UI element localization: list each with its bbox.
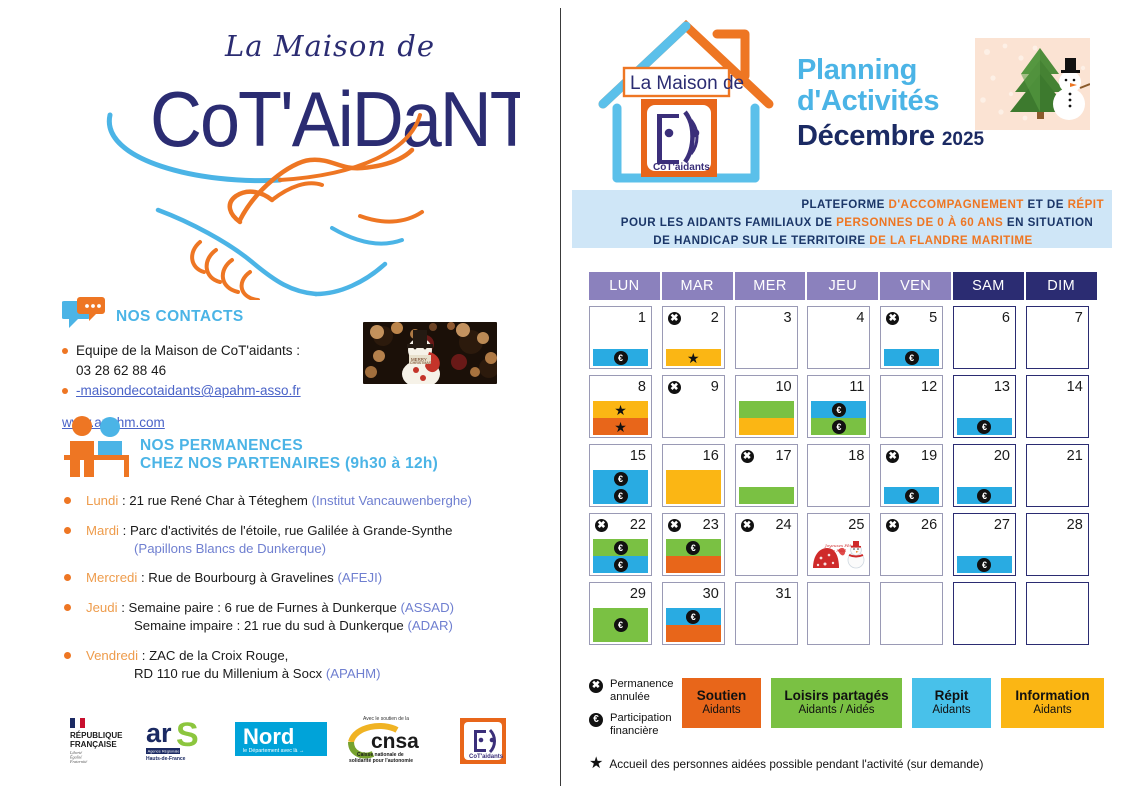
calendar-day-18[interactable]: 18 bbox=[807, 444, 870, 507]
calendar-day-4[interactable]: 4 bbox=[807, 306, 870, 369]
cotaidants-logo: CoT'aidants bbox=[460, 718, 506, 769]
activity-bands: € bbox=[666, 539, 721, 573]
calendar-cell-wrapper: 16 bbox=[662, 444, 735, 513]
activity-bands: €€ bbox=[593, 470, 648, 504]
calendar-cell-wrapper: 28 bbox=[1026, 513, 1099, 582]
legend-category-r-pit[interactable]: RépitAidants bbox=[912, 678, 991, 728]
calendar-day-15[interactable]: 15€€ bbox=[589, 444, 652, 507]
day-header: ✖2 bbox=[663, 307, 724, 329]
day-number: 9 bbox=[711, 380, 719, 395]
svg-text:CoT'aidants: CoT'aidants bbox=[469, 754, 504, 760]
day-number: 11 bbox=[849, 380, 864, 395]
day-header: 7 bbox=[1027, 307, 1088, 329]
day-number: 7 bbox=[1075, 311, 1083, 326]
calendar-day-31[interactable]: 31 bbox=[735, 582, 798, 645]
calendar-day-grid: 1€✖2★34✖5€678★★✖91011€€1213€1415€€16✖171… bbox=[589, 306, 1099, 651]
left-panel: La Maison de CoT'AiDaNTs bbox=[0, 0, 558, 794]
permanence-sep: : bbox=[119, 523, 130, 538]
activity-band-orange[interactable]: ★ bbox=[593, 418, 648, 435]
activity-band-yellow[interactable] bbox=[666, 470, 721, 504]
activity-band-green[interactable]: € bbox=[593, 608, 648, 642]
cnsa-logo: Avec le soutien de la cnsa Caisse nation… bbox=[345, 712, 437, 769]
two-people-desk-icon bbox=[62, 415, 130, 482]
calendar-day-11[interactable]: 11€€ bbox=[807, 375, 870, 438]
mission-banner: PLATEFORME D'ACCOMPAGNEMENT ET DE RÉPIT … bbox=[572, 190, 1112, 248]
legend-category-subtitle: Aidants bbox=[1033, 704, 1071, 718]
day-number: 13 bbox=[994, 380, 1010, 395]
calendar-cell-wrapper: 21 bbox=[1026, 444, 1099, 513]
svg-text:La Maison de: La Maison de bbox=[224, 29, 435, 63]
title-month: Décembre bbox=[797, 120, 935, 153]
day-header: 29 bbox=[590, 583, 651, 605]
permanence-sub-row: RD 110 rue du Millenium à Socx (APAHM) bbox=[86, 665, 542, 683]
activity-band-blue[interactable]: € bbox=[666, 608, 721, 625]
calendar-day-13[interactable]: 13€ bbox=[953, 375, 1016, 438]
day-header: ✖17 bbox=[736, 445, 797, 467]
activity-band-yellow[interactable] bbox=[739, 418, 794, 435]
weekday-header-ven: VEN bbox=[880, 272, 951, 300]
activity-band-blue[interactable]: € bbox=[957, 556, 1012, 573]
day-number: 19 bbox=[921, 449, 937, 464]
calendar-day-14[interactable]: 14 bbox=[1026, 375, 1089, 438]
calendar-day-30[interactable]: 30€ bbox=[662, 582, 725, 645]
day-header: 10 bbox=[736, 376, 797, 398]
calendar-day-3[interactable]: 3 bbox=[735, 306, 798, 369]
activity-bands: ★★ bbox=[593, 401, 648, 435]
permanence-day: Mercredi bbox=[86, 570, 137, 585]
contact-team-row: Equipe de la Maison de CoT'aidants : 03 … bbox=[62, 341, 362, 380]
calendar-day-26[interactable]: ✖26 bbox=[880, 513, 943, 576]
svg-text:Nord: Nord bbox=[243, 724, 294, 749]
permanence-sub-partner: (ADAR) bbox=[407, 618, 452, 633]
planning-poster: La Maison de CoT'AiDaNTs bbox=[0, 0, 1123, 794]
legend-category-information[interactable]: InformationAidants bbox=[1001, 678, 1104, 728]
calendar-cell-wrapper: 13€ bbox=[953, 375, 1026, 444]
permanences-title-line2: CHEZ NOS PARTENAIRES (9h30 à 12h) bbox=[140, 455, 438, 473]
activity-bands: € bbox=[593, 608, 648, 642]
activity-band-orange[interactable] bbox=[666, 625, 721, 642]
day-header bbox=[808, 583, 869, 605]
day-header: ✖26 bbox=[881, 514, 942, 536]
calendar-cell-wrapper: ✖24 bbox=[735, 513, 808, 582]
activity-bands: € bbox=[884, 487, 939, 504]
activity-bands: € bbox=[957, 487, 1012, 504]
calendar-cell-wrapper bbox=[953, 582, 1026, 651]
permanence-address: Semaine paire : 6 rue de Furnes à Dunker… bbox=[129, 600, 397, 615]
euro-coin-icon: € bbox=[614, 558, 628, 572]
day-number: 8 bbox=[638, 380, 646, 395]
permanence-item: Mardi : Parc d'activités de l'étoile, ru… bbox=[62, 522, 542, 558]
calendar-cell-wrapper: ✖2★ bbox=[662, 306, 735, 375]
calendar-cell-wrapper: ✖17 bbox=[735, 444, 808, 513]
legend-category-title: Soutien bbox=[697, 688, 747, 704]
activity-band-blue[interactable]: € bbox=[593, 487, 648, 504]
permanence-sub-partner: (Papillons Blancs de Dunkerque) bbox=[86, 540, 542, 558]
euro-coin-icon: € bbox=[614, 618, 628, 632]
activity-band-blue[interactable]: € bbox=[884, 349, 939, 366]
contact-email-link[interactable]: -maisondecotaidants@apahm-asso.fr bbox=[76, 381, 362, 401]
calendar-day-25[interactable]: 25Joyeuses Fêtesde Noël bbox=[807, 513, 870, 576]
calendar-day-12[interactable]: 12 bbox=[880, 375, 943, 438]
day-number: 5 bbox=[929, 311, 937, 326]
day-header: 25 bbox=[808, 514, 869, 536]
legend-key-line1: Permanence bbox=[610, 678, 673, 690]
permanences-list: Lundi : 21 rue René Char à Téteghem (Ins… bbox=[62, 492, 542, 683]
permanence-sub: Semaine impaire : 21 rue du sud à Dunker… bbox=[134, 618, 404, 633]
permanence-address: Rue de Bourbourg à Gravelines bbox=[148, 570, 333, 585]
calendar-day-28[interactable]: 28 bbox=[1026, 513, 1089, 576]
permanence-day: Lundi bbox=[86, 493, 118, 508]
day-number: 31 bbox=[775, 587, 791, 602]
calendar-day-29[interactable]: 29€ bbox=[589, 582, 652, 645]
calendar-cell-wrapper: 15€€ bbox=[589, 444, 662, 513]
permanence-address: Parc d'activités de l'étoile, rue Galilé… bbox=[130, 523, 452, 538]
svg-text:cnsa: cnsa bbox=[371, 730, 419, 753]
euro-coin-icon: € bbox=[614, 472, 628, 486]
permanences-heading: NOS PERMANENCES CHEZ NOS PARTENAIRES (9h… bbox=[62, 415, 542, 482]
calendar-cell-wrapper: 30€ bbox=[662, 582, 735, 651]
calendar-cell-wrapper: 14 bbox=[1026, 375, 1099, 444]
calendar-cell-wrapper bbox=[1026, 582, 1099, 651]
day-header: 12 bbox=[881, 376, 942, 398]
legend-key-line2: financière bbox=[610, 725, 659, 737]
weekday-header-mar: MAR bbox=[662, 272, 733, 300]
day-header: 13 bbox=[954, 376, 1015, 398]
legend-category-subtitle: Aidants bbox=[702, 704, 740, 718]
legend-key-text: Permanence annulée bbox=[610, 678, 673, 705]
calendar-day-27[interactable]: 27€ bbox=[953, 513, 1016, 576]
permanence-address: 21 rue René Char à Téteghem bbox=[129, 493, 308, 508]
banner-seg: PERSONNES DE 0 À 60 ANS bbox=[836, 216, 1007, 229]
calendar-cell-wrapper bbox=[880, 582, 953, 651]
day-header: 4 bbox=[808, 307, 869, 329]
day-number: 4 bbox=[856, 311, 864, 326]
calendar-cell-wrapper: 20€ bbox=[953, 444, 1026, 513]
euro-coin-icon: € bbox=[905, 489, 919, 503]
day-header: 20 bbox=[954, 445, 1015, 467]
joyeuses-fetes-de-noel-illustration: Joyeuses Fêtesde Noël bbox=[811, 538, 868, 572]
activity-band-blue[interactable]: € bbox=[884, 487, 939, 504]
activity-band-green[interactable] bbox=[739, 401, 794, 418]
day-number: 2 bbox=[711, 311, 719, 326]
weekday-header-jeu: JEU bbox=[807, 272, 878, 300]
cancelled-x-icon: ✖ bbox=[589, 679, 603, 693]
day-number: 23 bbox=[703, 518, 719, 533]
day-header: 14 bbox=[1027, 376, 1088, 398]
permanence-partner: (Institut Vancauwenberghe) bbox=[312, 493, 472, 508]
republique-francaise-logo: RÉPUBLIQUE FRANÇAISE Liberté Égalité Fra… bbox=[70, 718, 134, 769]
day-header: ✖9 bbox=[663, 376, 724, 398]
day-number: 14 bbox=[1067, 380, 1083, 395]
activity-band-blue[interactable]: € bbox=[593, 556, 648, 573]
svg-text:le Département avec là →: le Département avec là → bbox=[243, 748, 304, 754]
day-number: 6 bbox=[1002, 311, 1010, 326]
legend-category-title: Information bbox=[1015, 688, 1089, 704]
permanences-title-line1: NOS PERMANENCES bbox=[140, 437, 438, 455]
day-header: 28 bbox=[1027, 514, 1088, 536]
day-number: 30 bbox=[703, 587, 719, 602]
activity-band-green[interactable]: € bbox=[666, 539, 721, 556]
legend-key-cancelled: ✖ Permanence annulée bbox=[589, 678, 682, 705]
star-icon: ★ bbox=[589, 756, 603, 772]
day-header: ✖22 bbox=[590, 514, 651, 536]
banner-seg: EN SITUATION bbox=[1007, 216, 1093, 229]
euro-coin-icon: € bbox=[686, 541, 700, 555]
calendar-day-empty[interactable] bbox=[1026, 582, 1089, 645]
activity-bands: €€ bbox=[811, 401, 866, 435]
day-number: 22 bbox=[630, 518, 646, 533]
calendar-day-9[interactable]: ✖9 bbox=[662, 375, 725, 438]
activity-band-yellow[interactable]: ★ bbox=[666, 349, 721, 366]
banner-seg: POUR LES AIDANTS FAMILIAUX DE bbox=[621, 216, 836, 229]
day-number: 12 bbox=[921, 380, 937, 395]
ars-hauts-de-france-logo: ar S Agence Régionale de Santé Hauts-de-… bbox=[146, 716, 216, 769]
activity-bands: ★ bbox=[666, 349, 721, 366]
cancelled-x-icon: ✖ bbox=[668, 381, 681, 394]
partner-logos: RÉPUBLIQUE FRANÇAISE Liberté Égalité Fra… bbox=[70, 712, 490, 768]
day-header bbox=[1027, 583, 1088, 605]
svg-text:solidarité pour l'autonomie: solidarité pour l'autonomie bbox=[349, 758, 413, 764]
euro-coin-icon: € bbox=[977, 558, 991, 572]
calendar-cell-wrapper: ✖26 bbox=[880, 513, 953, 582]
day-header: 16 bbox=[663, 445, 724, 467]
day-number: 3 bbox=[784, 311, 792, 326]
calendar-cell-wrapper bbox=[807, 582, 880, 651]
banner-line-3: DE HANDICAP SUR LE TERRITOIRE DE LA FLAN… bbox=[602, 232, 1112, 250]
activity-band-blue[interactable]: € bbox=[811, 401, 866, 418]
activity-band-orange[interactable] bbox=[666, 556, 721, 573]
day-header bbox=[954, 583, 1015, 605]
permanence-sep: : bbox=[137, 570, 148, 585]
activity-bands: € bbox=[593, 349, 648, 366]
star-icon: ★ bbox=[614, 420, 627, 434]
permanences-titles: NOS PERMANENCES CHEZ NOS PARTENAIRES (9h… bbox=[140, 415, 438, 473]
permanence-sep: : bbox=[118, 600, 129, 615]
activity-band-blue[interactable]: € bbox=[957, 487, 1012, 504]
banner-seg: DE LA FLANDRE MARITIME bbox=[869, 234, 1032, 247]
permanence-partner: (AFEJI) bbox=[337, 570, 382, 585]
calendar-cell-wrapper: 31 bbox=[735, 582, 808, 651]
cancelled-x-icon: ✖ bbox=[668, 312, 681, 325]
calendar-cell-wrapper: ✖22€€ bbox=[589, 513, 662, 582]
activity-band-green[interactable]: € bbox=[593, 539, 648, 556]
permanence-sep: : bbox=[138, 648, 149, 663]
calendar-cell-wrapper: ✖19€ bbox=[880, 444, 953, 513]
day-header: ✖23 bbox=[663, 514, 724, 536]
christmas-tree-snowman-illustration bbox=[975, 38, 1090, 130]
maison-cotaidants-house-logo: La Maison de CoT'aidants bbox=[595, 12, 777, 192]
legend-categories: SoutienAidantsLoisirs partagésAidants / … bbox=[682, 676, 1104, 728]
day-header: ✖19 bbox=[881, 445, 942, 467]
svg-text:Avec le soutien de la: Avec le soutien de la bbox=[363, 716, 409, 722]
calendar-day-21[interactable]: 21 bbox=[1026, 444, 1089, 507]
snowman-christmas-photo: MERRY CHRISTMAS bbox=[363, 322, 497, 384]
calendar-day-22[interactable]: ✖22€€ bbox=[589, 513, 652, 576]
calendar-day-16[interactable]: 16 bbox=[662, 444, 725, 507]
day-header: 31 bbox=[736, 583, 797, 605]
euro-coin-icon: € bbox=[905, 351, 919, 365]
star-icon: ★ bbox=[614, 403, 627, 417]
calendar-day-17[interactable]: ✖17 bbox=[735, 444, 798, 507]
calendar-cell-wrapper: 6 bbox=[953, 306, 1026, 375]
svg-text:CHRISTMAS: CHRISTMAS bbox=[410, 361, 432, 365]
day-header: 21 bbox=[1027, 445, 1088, 467]
calendar-cell-wrapper: 8★★ bbox=[589, 375, 662, 444]
legend-category-soutien[interactable]: SoutienAidants bbox=[682, 678, 761, 728]
cancelled-x-icon: ✖ bbox=[595, 519, 608, 532]
calendar-day-empty[interactable] bbox=[880, 582, 943, 645]
activity-bands bbox=[739, 401, 794, 435]
legend-category-subtitle: Aidants bbox=[932, 704, 970, 718]
activity-band-yellow[interactable]: ★ bbox=[593, 401, 648, 418]
nord-departement-logo: Nord le Département avec là → bbox=[235, 722, 327, 761]
permanence-item: Lundi : 21 rue René Char à Téteghem (Ins… bbox=[62, 492, 542, 510]
legend-category-title: Loisirs partagés bbox=[784, 688, 888, 704]
calendar-day-2[interactable]: ✖2★ bbox=[662, 306, 725, 369]
activity-bands: € bbox=[957, 418, 1012, 435]
day-number: 10 bbox=[775, 380, 791, 395]
permanence-day: Mardi bbox=[86, 523, 119, 538]
svg-text:CoT'AiDaNTs: CoT'AiDaNTs bbox=[150, 76, 520, 163]
calendar-day-6[interactable]: 6 bbox=[953, 306, 1016, 369]
legend-category-loisirs-partag-s[interactable]: Loisirs partagésAidants / Aidés bbox=[771, 678, 902, 728]
legend-category-subtitle: Aidants / Aidés bbox=[798, 704, 874, 718]
legend-key-line1: Participation bbox=[610, 712, 672, 724]
december-calendar: LUNMARMERJEUVENSAMDIM 1€✖2★34✖5€678★★✖91… bbox=[589, 272, 1099, 651]
day-number: 15 bbox=[630, 449, 646, 464]
day-number: 20 bbox=[994, 449, 1010, 464]
calendar-cell-wrapper: 27€ bbox=[953, 513, 1026, 582]
calendar-legend: ✖ Permanence annulée € Participation fin… bbox=[589, 676, 1104, 772]
banner-seg: DE HANDICAP SUR LE TERRITOIRE bbox=[653, 234, 869, 247]
calendar-cell-wrapper: 18 bbox=[807, 444, 880, 513]
legend-footnote-text: Accueil des personnes aidées possible pe… bbox=[609, 757, 983, 771]
legend-keys: ✖ Permanence annulée € Participation fin… bbox=[589, 676, 682, 746]
calendar-cell-wrapper: 11€€ bbox=[807, 375, 880, 444]
day-number: 16 bbox=[703, 449, 719, 464]
calendar-day-10[interactable]: 10 bbox=[735, 375, 798, 438]
day-header: 11 bbox=[808, 376, 869, 398]
calendar-weekday-header: LUNMARMERJEUVENSAMDIM bbox=[589, 272, 1099, 300]
calendar-day-empty[interactable] bbox=[807, 582, 870, 645]
activity-band-green[interactable]: € bbox=[811, 418, 866, 435]
calendar-cell-wrapper: 4 bbox=[807, 306, 880, 375]
calendar-cell-wrapper: ✖5€ bbox=[880, 306, 953, 375]
euro-coin-icon: € bbox=[614, 489, 628, 503]
calendar-day-24[interactable]: ✖24 bbox=[735, 513, 798, 576]
euro-coin-icon: € bbox=[832, 403, 846, 417]
permanence-item: Vendredi : ZAC de la Croix Rouge, RD 110… bbox=[62, 647, 542, 683]
weekday-header-lun: LUN bbox=[589, 272, 660, 300]
day-header: ✖5 bbox=[881, 307, 942, 329]
activity-band-blue[interactable]: € bbox=[593, 349, 648, 366]
calendar-cell-wrapper: ✖9 bbox=[662, 375, 735, 444]
legend-category-title: Répit bbox=[935, 688, 969, 704]
day-number: 17 bbox=[775, 449, 791, 464]
calendar-cell-wrapper: 25Joyeuses Fêtesde Noël bbox=[807, 513, 880, 582]
day-header: 8 bbox=[590, 376, 651, 398]
euro-coin-icon: € bbox=[686, 610, 700, 624]
day-header: ✖24 bbox=[736, 514, 797, 536]
calendar-day-19[interactable]: ✖19€ bbox=[880, 444, 943, 507]
legend-row: ✖ Permanence annulée € Participation fin… bbox=[589, 676, 1104, 746]
calendar-day-8[interactable]: 8★★ bbox=[589, 375, 652, 438]
calendar-day-empty[interactable] bbox=[953, 582, 1016, 645]
activity-bands: € bbox=[666, 608, 721, 642]
euro-coin-icon: € bbox=[977, 420, 991, 434]
activity-bands bbox=[739, 487, 794, 504]
svg-text:Fraternité: Fraternité bbox=[70, 759, 88, 764]
poster-title: Planning d'Activités Décembre 2025 bbox=[797, 55, 984, 153]
permanence-day: Jeudi bbox=[86, 600, 118, 615]
calendar-cell-wrapper: 7 bbox=[1026, 306, 1099, 375]
permanence-item: Mercredi : Rue de Bourbourg à Gravelines… bbox=[62, 569, 542, 587]
day-number: 28 bbox=[1067, 518, 1083, 533]
title-month-row: Décembre 2025 bbox=[797, 120, 984, 153]
activity-band-blue[interactable]: € bbox=[957, 418, 1012, 435]
legend-key-line2: annulée bbox=[610, 691, 650, 703]
star-icon: ★ bbox=[687, 351, 700, 365]
calendar-day-23[interactable]: ✖23€ bbox=[662, 513, 725, 576]
cancelled-x-icon: ✖ bbox=[886, 450, 899, 463]
cancelled-x-icon: ✖ bbox=[741, 450, 754, 463]
contacts-heading: NOS CONTACTS bbox=[62, 297, 362, 336]
day-header: 18 bbox=[808, 445, 869, 467]
legend-key-text: Participation financière bbox=[610, 712, 672, 739]
calendar-day-5[interactable]: ✖5€ bbox=[880, 306, 943, 369]
svg-text:La Maison de: La Maison de bbox=[630, 73, 744, 94]
activity-band-green[interactable] bbox=[739, 487, 794, 504]
title-planning: Planning bbox=[797, 55, 984, 86]
svg-text:Agence Régionale de Santé: Agence Régionale de Santé bbox=[148, 749, 196, 754]
activity-bands bbox=[666, 470, 721, 504]
contact-email-row[interactable]: -maisondecotaidants@apahm-asso.fr bbox=[62, 381, 362, 401]
banner-seg: D'ACCOMPAGNEMENT bbox=[889, 198, 1028, 211]
calendar-day-20[interactable]: 20€ bbox=[953, 444, 1016, 507]
day-header: 15 bbox=[590, 445, 651, 467]
permanence-partner: (ASSAD) bbox=[401, 600, 455, 615]
euro-coin-icon: € bbox=[614, 541, 628, 555]
activity-band-blue[interactable]: € bbox=[593, 470, 648, 487]
day-number: 29 bbox=[630, 587, 646, 602]
svg-text:Hauts-de-France: Hauts-de-France bbox=[146, 756, 186, 762]
mission-banner-text: PLATEFORME D'ACCOMPAGNEMENT ET DE RÉPIT … bbox=[602, 196, 1112, 250]
cancelled-x-icon: ✖ bbox=[886, 312, 899, 325]
day-header: 6 bbox=[954, 307, 1015, 329]
calendar-day-7[interactable]: 7 bbox=[1026, 306, 1089, 369]
euro-coin-icon: € bbox=[977, 489, 991, 503]
svg-text:FRANÇAISE: FRANÇAISE bbox=[70, 740, 117, 749]
svg-text:de Noël: de Noël bbox=[830, 548, 847, 553]
title-year: 2025 bbox=[942, 129, 984, 151]
day-number: 25 bbox=[848, 518, 864, 533]
euro-coin-icon: € bbox=[832, 420, 846, 434]
calendar-cell-wrapper: 1€ bbox=[589, 306, 662, 375]
day-header: 1 bbox=[590, 307, 651, 329]
cancelled-x-icon: ✖ bbox=[741, 519, 754, 532]
weekday-header-mer: MER bbox=[735, 272, 806, 300]
contacts-title: NOS CONTACTS bbox=[116, 308, 244, 326]
svg-text:ar: ar bbox=[146, 718, 172, 748]
title-activites: d'Activités bbox=[797, 86, 984, 117]
calendar-day-1[interactable]: 1€ bbox=[589, 306, 652, 369]
day-header: 27 bbox=[954, 514, 1015, 536]
legend-key-paid: € Participation financière bbox=[589, 712, 682, 739]
euro-coin-icon: € bbox=[589, 713, 603, 727]
permanence-item: Jeudi : Semaine paire : 6 rue de Furnes … bbox=[62, 599, 542, 635]
euro-coin-icon: € bbox=[614, 351, 628, 365]
day-number: 27 bbox=[994, 518, 1010, 533]
